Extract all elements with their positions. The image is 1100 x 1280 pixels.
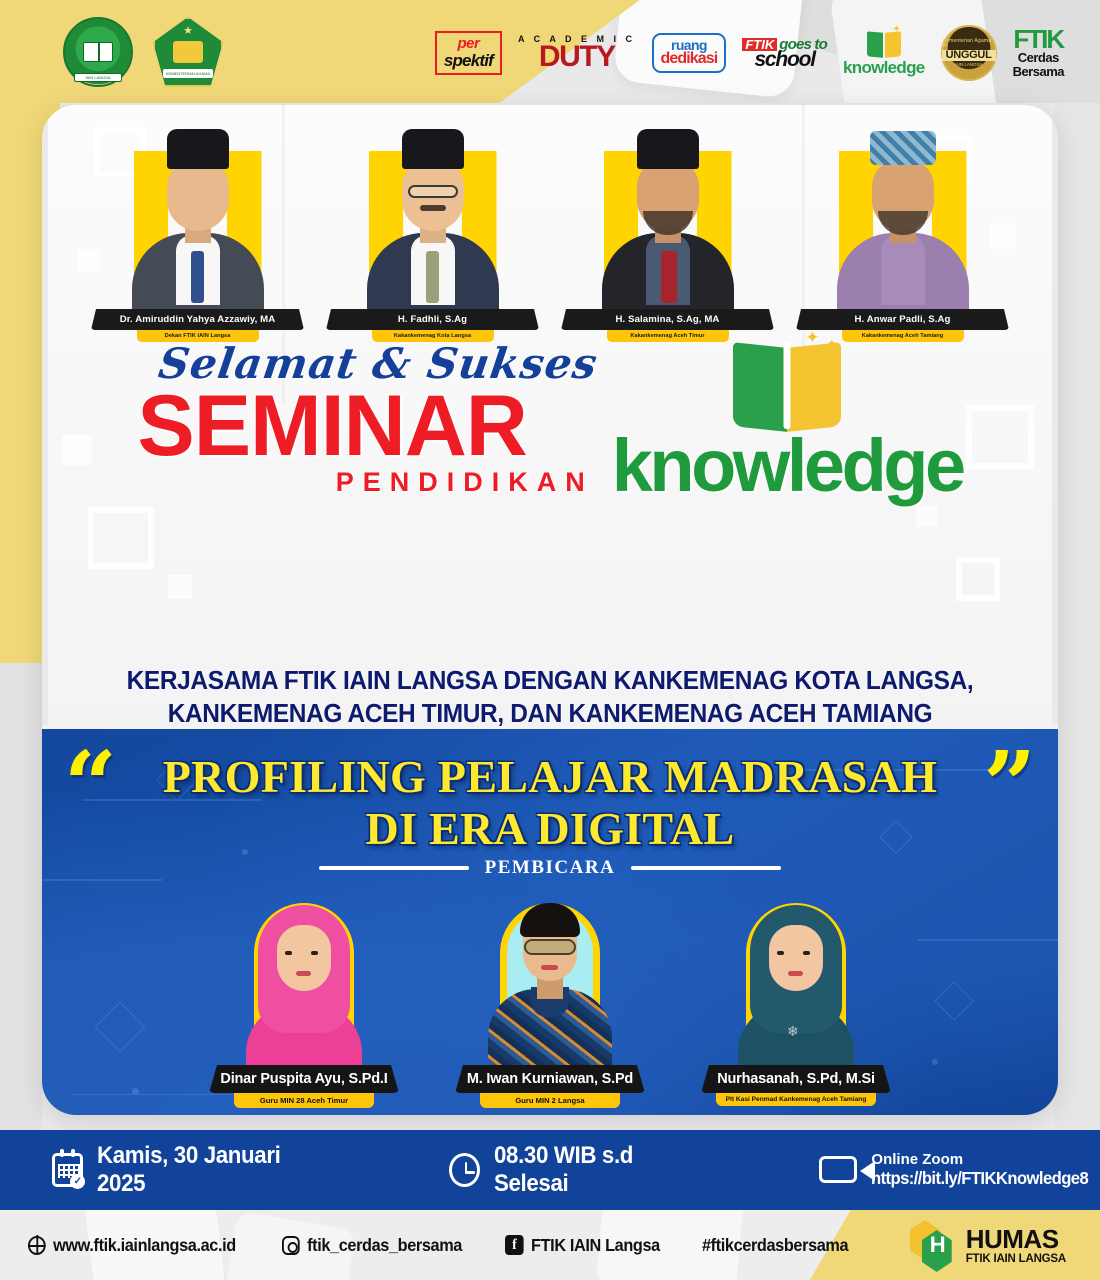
- speaker-role: Guru MIN 2 Langsa: [480, 1093, 620, 1108]
- main-seminar-title: PROFILING PELAJAR MADRASAH DI ERA DIGITA…: [42, 751, 1058, 856]
- logo-knowledge-text: knowledge: [843, 59, 925, 76]
- speaker-card: Dinar Puspita Ayu, S.Pd.I Guru MIN 28 Ac…: [209, 889, 399, 1108]
- official-photo: [561, 121, 774, 313]
- speaker-name: M. Iwan Kurniawan, S.Pd: [455, 1065, 645, 1093]
- humas-logo: H HUMAS FTIK IAIN LANGSA: [910, 1220, 1066, 1272]
- speaker-photo: ❄: [701, 889, 891, 1071]
- logo-ftik-goes-to-school: FTIK goes to school: [742, 37, 827, 70]
- event-zoom-item[interactable]: Online Zoom https://bit.ly/FTIKKnowledge…: [819, 1152, 1100, 1188]
- open-book-icon: ✦ ✦ ✦: [727, 337, 847, 429]
- collaboration-line-2: KANKEMENAG ACEH TIMUR, DAN KANKEMENAG AC…: [62, 698, 1037, 731]
- event-time-text: 08.30 WIB s.d Selesai: [494, 1142, 692, 1198]
- event-date-text: Kamis, 30 Januari 2025: [97, 1142, 312, 1198]
- humas-mark-icon: H: [910, 1220, 956, 1272]
- main-blue-panel: “ ” PROFILING PELAJAR MADRASAH DI ERA DI…: [42, 729, 1058, 1115]
- logo-ftikcb-line3: Bersama: [1013, 65, 1064, 79]
- logo-academic-duty: A C A D E M I C DUTY: [518, 35, 636, 72]
- official-card: Dr. Amiruddin Yahya Azzawiy, MA Dekan FT…: [91, 121, 304, 342]
- official-photo: [796, 121, 1009, 313]
- seminar-title-block: Selamat & Sukses SEMINAR PENDIDIKAN ✦ ✦ …: [42, 335, 1058, 500]
- footer-hashtag-text: #ftikcerdasbersama: [702, 1235, 848, 1256]
- poster-footer: www.ftik.iainlangsa.ac.id ftik_cerdas_be…: [0, 1210, 1100, 1280]
- globe-icon: [28, 1236, 46, 1255]
- divider-rule-right: [631, 866, 781, 870]
- official-photo: [326, 121, 539, 313]
- officials-row: Dr. Amiruddin Yahya Azzawiy, MA Dekan FT…: [42, 121, 1058, 342]
- footer-website[interactable]: www.ftik.iainlangsa.ac.id: [28, 1235, 236, 1256]
- iain-langsa-seal-icon: IAIN LANGSA: [62, 16, 134, 88]
- speaker-photo: [209, 889, 399, 1071]
- logo-perspektif-line2: spektif: [444, 52, 493, 69]
- footer-hashtag: #ftikcerdasbersama: [702, 1235, 848, 1256]
- humas-subtitle: FTIK IAIN LANGSA: [966, 1253, 1066, 1265]
- logo-perspektif: per spektif: [435, 31, 502, 75]
- backdrop-grey-right: [1054, 103, 1100, 1130]
- footer-contacts: www.ftik.iainlangsa.ac.id ftik_cerdas_be…: [28, 1210, 859, 1280]
- official-card: H. Anwar Padli, S.Ag Kakankemenag Aceh T…: [796, 121, 1009, 342]
- logo-perspektif-line1: per: [457, 36, 479, 51]
- open-book-icon: ✦: [867, 30, 901, 57]
- footer-website-text[interactable]: www.ftik.iainlangsa.ac.id: [53, 1235, 236, 1256]
- speaker-name: Dinar Puspita Ayu, S.Pd.I: [209, 1065, 399, 1093]
- collaboration-text: KERJASAMA FTIK IAIN LANGSA DENGAN KANKEM…: [62, 665, 1037, 730]
- kemenag-seal-caption: KEMENTERIAN AGAMA: [163, 69, 213, 78]
- speakers-row: Dinar Puspita Ayu, S.Pd.I Guru MIN 28 Ac…: [42, 889, 1058, 1108]
- logo-ftik-cerdas-bersama: FTIK Cerdas Bersama: [1013, 28, 1064, 79]
- speaker-card: M. Iwan Kurniawan, S.Pd Guru MIN 2 Langs…: [455, 889, 645, 1108]
- calendar-icon: ✓: [52, 1153, 83, 1187]
- official-name: H. Fadhli, S.Ag: [326, 309, 539, 330]
- official-name: H. Anwar Padli, S.Ag: [796, 309, 1009, 330]
- logo-knowledge: ✦ knowledge: [843, 30, 925, 76]
- logo-ftikcb-line1: FTIK: [1013, 28, 1063, 51]
- speaker-name: Nurhasanah, S.Pd, M.Si: [701, 1065, 891, 1093]
- event-time-item: 08.30 WIB s.d Selesai: [449, 1142, 708, 1198]
- backdrop-grey-left: [0, 663, 42, 1130]
- instagram-icon: [282, 1236, 300, 1255]
- logo-school-line2: school: [754, 49, 814, 70]
- facebook-icon: f: [505, 1235, 524, 1255]
- logo-unggul-top: Kementerian Agama RI: [943, 39, 995, 49]
- humas-title: HUMAS: [966, 1227, 1066, 1252]
- greeting-text: Selamat & Sukses: [156, 343, 600, 385]
- event-info-bar: ✓ Kamis, 30 Januari 2025 08.30 WIB s.d S…: [0, 1130, 1100, 1210]
- official-card: H. Fadhli, S.Ag Kakankemenag Kota Langsa: [326, 121, 539, 342]
- logo-ruang-line2: dedikasi: [661, 51, 718, 67]
- knowledge-brand-text: knowledge: [612, 433, 963, 500]
- official-photo: [91, 121, 304, 313]
- main-title-line-1: PROFILING PELAJAR MADRASAH: [42, 751, 1058, 803]
- clock-icon: [449, 1153, 480, 1187]
- zoom-link[interactable]: https://bit.ly/FTIKKnowledge8: [871, 1169, 1088, 1189]
- footer-facebook-text[interactable]: FTIK IAIN Langsa: [531, 1235, 660, 1256]
- speaker-card: ❄ Nurhasanah, S.Pd, M.Si Plt Kasi Penmad…: [701, 889, 891, 1108]
- logo-unggul-bottom: IAIN LANGSA: [954, 63, 982, 68]
- seminar-word: SEMINAR: [137, 387, 597, 466]
- program-logo-strip: per spektif A C A D E M I C DUTY ruang d…: [435, 25, 1064, 81]
- logo-unggul-badge: Kementerian Agama RI UNGGUL IAIN LANGSA: [941, 25, 997, 81]
- speaker-role: Plt Kasi Penmad Kankemenag Aceh Tamiang: [716, 1093, 876, 1106]
- official-name: H. Salamina, S.Ag, MA: [561, 309, 774, 330]
- footer-instagram[interactable]: ftik_cerdas_bersama: [282, 1235, 462, 1256]
- logo-ruang-dedikasi: ruang dedikasi: [652, 33, 727, 73]
- footer-instagram-text[interactable]: ftik_cerdas_bersama: [307, 1235, 462, 1256]
- iain-seal-caption: IAIN LANGSA: [74, 73, 122, 82]
- event-date-item: ✓ Kamis, 30 Januari 2025: [52, 1142, 329, 1198]
- zoom-label: Online Zoom: [871, 1152, 1100, 1169]
- seminar-poster: IAIN LANGSA ★ KEMENTERIAN AGAMA per spek…: [0, 0, 1100, 1280]
- logo-duty-line2: DUTY: [539, 42, 615, 72]
- official-name: Dr. Amiruddin Yahya Azzawiy, MA: [91, 309, 304, 330]
- poster-card: Dr. Amiruddin Yahya Azzawiy, MA Dekan FT…: [42, 105, 1058, 1115]
- speaker-role: Guru MIN 28 Aceh Timur: [234, 1093, 374, 1108]
- main-title-line-2: DI ERA DIGITAL: [42, 803, 1058, 855]
- official-card: H. Salamina, S.Ag, MA Kakankemenag Aceh …: [561, 121, 774, 342]
- institution-logos: IAIN LANGSA ★ KEMENTERIAN AGAMA: [62, 16, 224, 88]
- collaboration-line-1: KERJASAMA FTIK IAIN LANGSA DENGAN KANKEM…: [62, 665, 1037, 698]
- divider-rule-left: [319, 866, 469, 870]
- logo-unggul-mid: UNGGUL: [942, 50, 996, 61]
- kemenag-seal-icon: ★ KEMENTERIAN AGAMA: [152, 16, 224, 88]
- video-camera-icon: [819, 1156, 857, 1183]
- logo-ftikcb-line2: Cerdas: [1018, 51, 1059, 65]
- speaker-photo: [455, 889, 645, 1071]
- pembicara-divider: PEMBICARA: [42, 857, 1058, 879]
- pembicara-label: PEMBICARA: [485, 857, 616, 879]
- poster-header: IAIN LANGSA ★ KEMENTERIAN AGAMA per spek…: [0, 0, 1100, 103]
- footer-facebook[interactable]: f FTIK IAIN Langsa: [505, 1235, 660, 1256]
